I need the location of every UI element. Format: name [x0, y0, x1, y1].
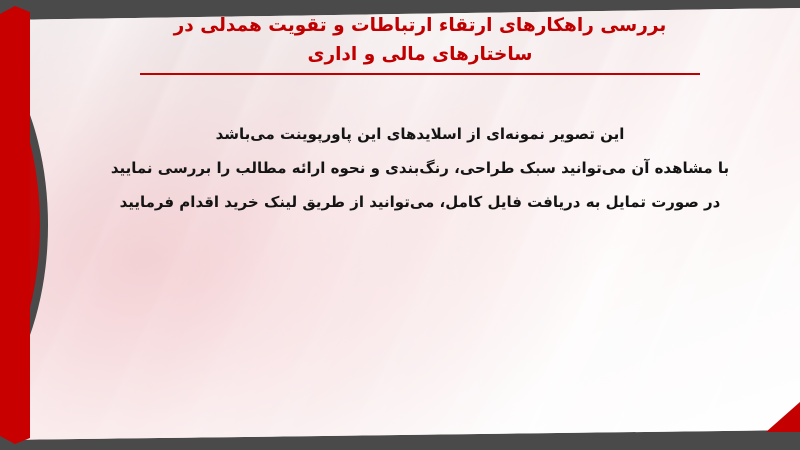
slide-body-line-1: این تصویر نمونه‌ای از اسلایدهای این پاور… [110, 118, 730, 152]
slide-content: بررسی راهکارهای ارتقاء ارتباطات و تقویت … [0, 0, 800, 450]
slide-title-line-1: بررسی راهکارهای ارتقاء ارتباطات و تقویت … [100, 12, 740, 41]
slide-body-line-2: با مشاهده آن می‌توانید سبک طراحی، رنگ‌بن… [110, 152, 730, 186]
slide-title: بررسی راهکارهای ارتقاء ارتباطات و تقویت … [100, 12, 740, 75]
presentation-slide: بررسی راهکارهای ارتقاء ارتباطات و تقویت … [0, 0, 800, 450]
title-divider-rule [140, 73, 700, 75]
slide-body-line-3: در صورت تمایل به دریافت فایل کامل، می‌تو… [110, 186, 730, 220]
slide-title-line-2: ساختارهای مالی و اداری [100, 41, 740, 70]
slide-body: این تصویر نمونه‌ای از اسلایدهای این پاور… [110, 118, 730, 219]
